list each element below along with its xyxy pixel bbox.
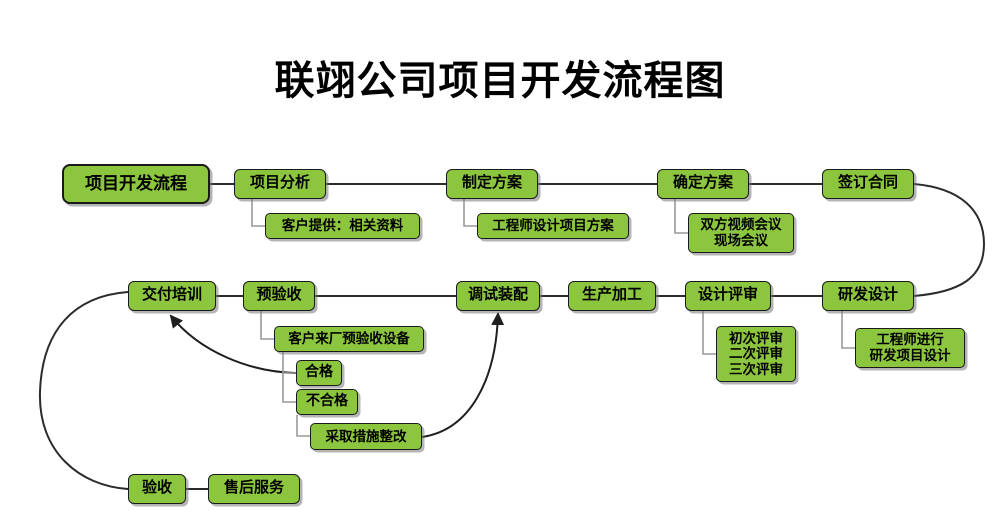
node-assembly[interactable]: 调试装配 (456, 281, 540, 311)
node-label: 签订合同 (838, 175, 898, 192)
elbow-plan-sub (464, 199, 477, 226)
node-label: 验收 (142, 480, 172, 497)
node-label: 客户提供：相关资料 (282, 218, 404, 234)
node-review[interactable]: 设计评审 (685, 281, 771, 311)
elbow-confirm-sub (675, 199, 688, 233)
node-label: 设计评审 (698, 287, 758, 304)
node-analysis[interactable]: 项目分析 (234, 169, 326, 199)
node-plan_sub[interactable]: 工程师设计项目方案 (477, 213, 629, 239)
node-label: 不合格 (306, 394, 348, 410)
node-label: 客户来厂预验收设备 (288, 331, 410, 347)
node-label: 采取措施整改 (326, 429, 407, 445)
node-label: 双方视频会议 现场会议 (701, 217, 782, 248)
node-rectify[interactable]: 采取措施整改 (310, 423, 422, 450)
node-pre_accept[interactable]: 预验收 (243, 281, 315, 311)
node-analysis_sub[interactable]: 客户提供：相关资料 (265, 213, 420, 239)
node-plan[interactable]: 制定方案 (446, 169, 538, 199)
node-confirm[interactable]: 确定方案 (657, 169, 749, 199)
node-label: 生产加工 (582, 287, 642, 304)
node-rd[interactable]: 研发设计 (822, 281, 914, 311)
edge-rectify-assembly-arrow (422, 314, 498, 437)
edge-delivery-acceptance (40, 292, 128, 489)
node-label: 研发设计 (838, 287, 898, 304)
page-title: 联翊公司项目开发流程图 (0, 48, 1000, 106)
node-acceptance[interactable]: 验收 (128, 474, 186, 504)
node-delivery[interactable]: 交付培训 (128, 281, 216, 311)
elbow-rd-sub (842, 311, 855, 348)
elbow-review-sub (703, 311, 716, 354)
elbow-preaccept-sub (261, 311, 274, 339)
node-label: 项目分析 (250, 175, 310, 192)
node-label: 工程师设计项目方案 (492, 218, 614, 234)
node-pre_sub[interactable]: 客户来厂预验收设备 (274, 326, 424, 352)
node-qualified[interactable]: 合格 (296, 360, 342, 386)
node-label: 售后服务 (224, 480, 284, 497)
node-review_sub[interactable]: 初次评审 二次评审 三次评审 (716, 326, 796, 382)
node-unqualified[interactable]: 不合格 (296, 389, 358, 415)
node-label: 项目开发流程 (85, 174, 187, 194)
node-rd_sub[interactable]: 工程师进行 研发项目设计 (855, 328, 965, 368)
flowchart-canvas: 联翊公司项目开发流程图 (0, 0, 1000, 532)
edge-contract-rd (914, 184, 984, 296)
node-label: 预验收 (256, 287, 301, 304)
node-contract[interactable]: 签订合同 (822, 169, 914, 199)
node-label: 工程师进行 研发项目设计 (870, 332, 951, 363)
node-production[interactable]: 生产加工 (568, 281, 656, 311)
node-label: 确定方案 (673, 175, 733, 192)
node-label: 初次评审 二次评审 三次评审 (729, 331, 783, 378)
node-after_sales[interactable]: 售后服务 (208, 474, 300, 504)
elbow-preaccept-unqualified (283, 373, 296, 402)
node-label: 调试装配 (468, 287, 528, 304)
node-label: 交付培训 (142, 287, 202, 304)
elbow-analysis-sub (252, 199, 265, 226)
node-confirm_sub[interactable]: 双方视频会议 现场会议 (688, 213, 794, 253)
elbow-unqualified-rectify (297, 415, 310, 436)
node-label: 合格 (305, 365, 333, 381)
node-label: 制定方案 (462, 175, 522, 192)
node-root[interactable]: 项目开发流程 (62, 164, 210, 204)
